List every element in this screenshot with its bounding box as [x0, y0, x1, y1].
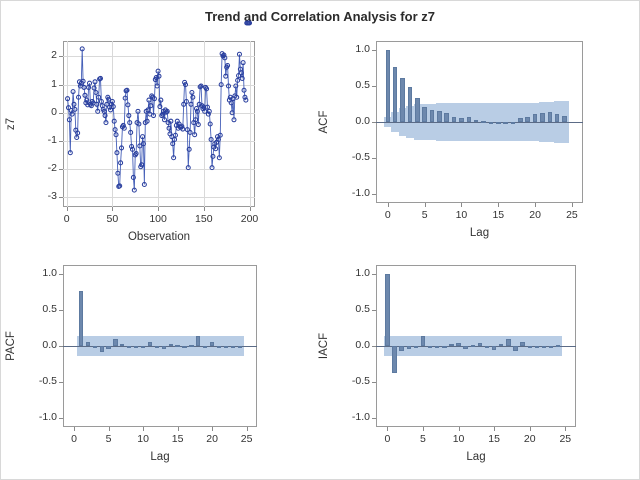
bar	[471, 345, 475, 347]
bar	[134, 346, 138, 348]
page-title: Trend and Correlation Analysis for z7	[1, 9, 639, 24]
bar	[549, 346, 553, 348]
y-tick	[59, 418, 63, 419]
x-tick	[387, 427, 388, 431]
bar	[400, 78, 405, 122]
bar	[485, 346, 489, 348]
x-tick	[212, 427, 213, 431]
bar	[93, 346, 97, 348]
bar	[386, 50, 391, 122]
x-tick	[498, 203, 499, 207]
bar	[100, 346, 104, 352]
bar	[435, 346, 439, 348]
bar	[408, 87, 413, 122]
bar	[106, 346, 110, 349]
x-tick-label: 15	[484, 209, 512, 221]
y-tick-label: -0.5	[336, 151, 370, 163]
bar	[407, 346, 411, 349]
x-tick	[178, 427, 179, 431]
bar	[548, 112, 553, 122]
bar	[540, 113, 545, 122]
bar	[217, 346, 221, 348]
x-tick-label: 100	[144, 213, 172, 225]
bar	[535, 346, 539, 348]
y-tick	[372, 50, 376, 51]
x-tick-label: 20	[516, 433, 544, 445]
zero-line	[376, 122, 583, 123]
x-tick-label: 10	[129, 433, 157, 445]
bar	[189, 345, 193, 347]
iacf-panel: 05101520251.00.50.0-0.5-1.0LagIACF	[320, 251, 639, 479]
x-tick-label: 20	[521, 209, 549, 221]
x-tick-label: 20	[198, 433, 226, 445]
x-axis-label: Lag	[63, 451, 257, 463]
x-tick-label: 0	[60, 433, 88, 445]
x-tick-label: 0	[373, 433, 401, 445]
series-panel: 050100150200210-1-2-3Observationz7	[1, 23, 320, 251]
y-tick-label: 1.0	[23, 267, 57, 279]
x-tick-label: 0	[53, 213, 81, 225]
y-tick-label: 0.5	[23, 303, 57, 315]
y-tick-label: -1.0	[23, 411, 57, 423]
y-tick	[372, 418, 376, 419]
y-tick-label: -0.5	[23, 375, 57, 387]
chart-canvas: Trend and Correlation Analysis for z7 05…	[0, 0, 640, 480]
x-tick-label: 15	[480, 433, 508, 445]
x-tick	[67, 207, 68, 211]
y-tick-label: -2	[23, 162, 57, 174]
y-tick	[59, 197, 63, 198]
y-tick	[372, 194, 376, 195]
bar	[467, 117, 472, 122]
y-axis-label: IACF	[318, 333, 330, 359]
bar	[182, 346, 186, 348]
bar	[86, 342, 90, 346]
y-tick-label: 1.0	[336, 267, 370, 279]
bar	[392, 346, 396, 373]
x-tick-label: 10	[447, 209, 475, 221]
y-tick	[59, 113, 63, 114]
y-tick-label: 0	[23, 106, 57, 118]
bar	[456, 343, 460, 346]
y-tick-label: 0.5	[336, 303, 370, 315]
x-tick	[530, 427, 531, 431]
y-tick-label: -3	[23, 190, 57, 202]
bar	[203, 346, 207, 348]
y-tick-label: 2	[23, 49, 57, 61]
x-tick	[158, 207, 159, 211]
bar	[414, 346, 418, 348]
x-tick-label: 50	[98, 213, 126, 225]
bar	[162, 346, 166, 349]
x-tick	[425, 203, 426, 207]
x-tick	[112, 207, 113, 211]
x-tick-label: 5	[409, 433, 437, 445]
bar	[437, 111, 442, 122]
y-tick	[59, 56, 63, 57]
x-tick	[247, 427, 248, 431]
bar	[430, 110, 435, 122]
bar	[556, 345, 560, 347]
bar	[452, 117, 457, 122]
x-tick	[459, 427, 460, 431]
x-axis-label: Observation	[63, 231, 255, 243]
bar	[444, 113, 449, 122]
y-tick-label: 0.0	[336, 339, 370, 351]
bar	[562, 116, 567, 122]
bar	[525, 117, 530, 122]
bar	[169, 344, 173, 346]
y-tick-label: 1	[23, 78, 57, 90]
bar	[481, 121, 486, 123]
y-tick-label: 1.0	[336, 43, 370, 55]
x-tick-label: 25	[558, 209, 586, 221]
y-tick-label: 0.5	[336, 79, 370, 91]
bar	[499, 344, 503, 346]
x-tick	[250, 207, 251, 211]
bar	[528, 346, 532, 348]
x-tick	[109, 427, 110, 431]
bar	[518, 118, 523, 122]
y-tick	[59, 310, 63, 311]
bar	[489, 122, 494, 124]
bar	[474, 120, 479, 122]
bar	[511, 122, 516, 124]
bar	[148, 342, 152, 346]
bar	[533, 114, 538, 122]
y-tick	[59, 274, 63, 275]
y-tick-label: -1.0	[336, 187, 370, 199]
bar	[428, 346, 432, 348]
bar	[442, 346, 446, 348]
x-axis-label: Lag	[376, 227, 583, 239]
x-tick-label: 10	[445, 433, 473, 445]
bar	[127, 346, 131, 348]
bar	[555, 114, 560, 122]
y-axis-label: ACF	[318, 111, 330, 134]
y-tick	[372, 158, 376, 159]
y-tick-label: -1	[23, 134, 57, 146]
y-tick	[59, 85, 63, 86]
bar	[513, 346, 517, 351]
y-tick	[372, 122, 376, 123]
bar	[542, 346, 546, 348]
x-tick-label: 25	[233, 433, 261, 445]
x-tick	[565, 427, 566, 431]
bar	[79, 291, 83, 346]
y-tick	[59, 141, 63, 142]
acf-panel: 05101520251.00.50.0-0.5-1.0LagACF	[320, 23, 639, 251]
y-axis-label: z7	[5, 118, 17, 130]
bar	[415, 98, 420, 122]
bar	[393, 67, 398, 122]
x-tick	[494, 427, 495, 431]
y-tick	[372, 86, 376, 87]
pacf-panel: 05101520251.00.50.0-0.5-1.0LagPACF	[1, 251, 320, 479]
bar	[459, 118, 464, 122]
bar	[492, 346, 496, 350]
bar	[421, 336, 425, 346]
y-tick	[372, 382, 376, 383]
x-tick-label: 5	[95, 433, 123, 445]
bar	[196, 336, 200, 346]
x-tick	[423, 427, 424, 431]
y-tick	[372, 274, 376, 275]
x-tick-label: 25	[551, 433, 579, 445]
x-tick-label: 0	[374, 209, 402, 221]
x-tick	[388, 203, 389, 207]
bar	[231, 346, 235, 348]
y-tick-label: -1.0	[336, 411, 370, 423]
bar	[385, 274, 389, 346]
y-tick	[59, 346, 63, 347]
bar	[478, 343, 482, 346]
y-tick	[372, 346, 376, 347]
bar	[422, 107, 427, 122]
y-axis-label: PACF	[5, 331, 17, 361]
y-tick	[59, 382, 63, 383]
x-tick-label: 5	[411, 209, 439, 221]
y-tick-label: 0.0	[23, 339, 57, 351]
bar	[120, 344, 124, 346]
y-tick-label: -0.5	[336, 375, 370, 387]
bar	[155, 346, 159, 348]
bar	[449, 344, 453, 346]
bar	[224, 346, 228, 348]
bar	[210, 342, 214, 346]
x-tick	[74, 427, 75, 431]
x-tick	[535, 203, 536, 207]
bar	[141, 346, 145, 348]
y-tick	[59, 169, 63, 170]
bar	[238, 346, 242, 348]
bar	[463, 346, 467, 349]
x-tick	[143, 427, 144, 431]
x-tick-label: 15	[164, 433, 192, 445]
x-tick	[572, 203, 573, 207]
x-tick	[204, 207, 205, 211]
bar	[506, 339, 510, 346]
bar	[520, 342, 524, 346]
x-tick-label: 150	[190, 213, 218, 225]
y-tick	[372, 310, 376, 311]
y-tick-label: 0.0	[336, 115, 370, 127]
x-tick	[461, 203, 462, 207]
x-tick-label: 200	[236, 213, 264, 225]
bar	[399, 346, 403, 351]
bar	[496, 122, 501, 124]
bar	[503, 122, 508, 124]
bar	[113, 339, 117, 346]
bar	[175, 345, 179, 347]
x-axis-label: Lag	[376, 451, 576, 463]
